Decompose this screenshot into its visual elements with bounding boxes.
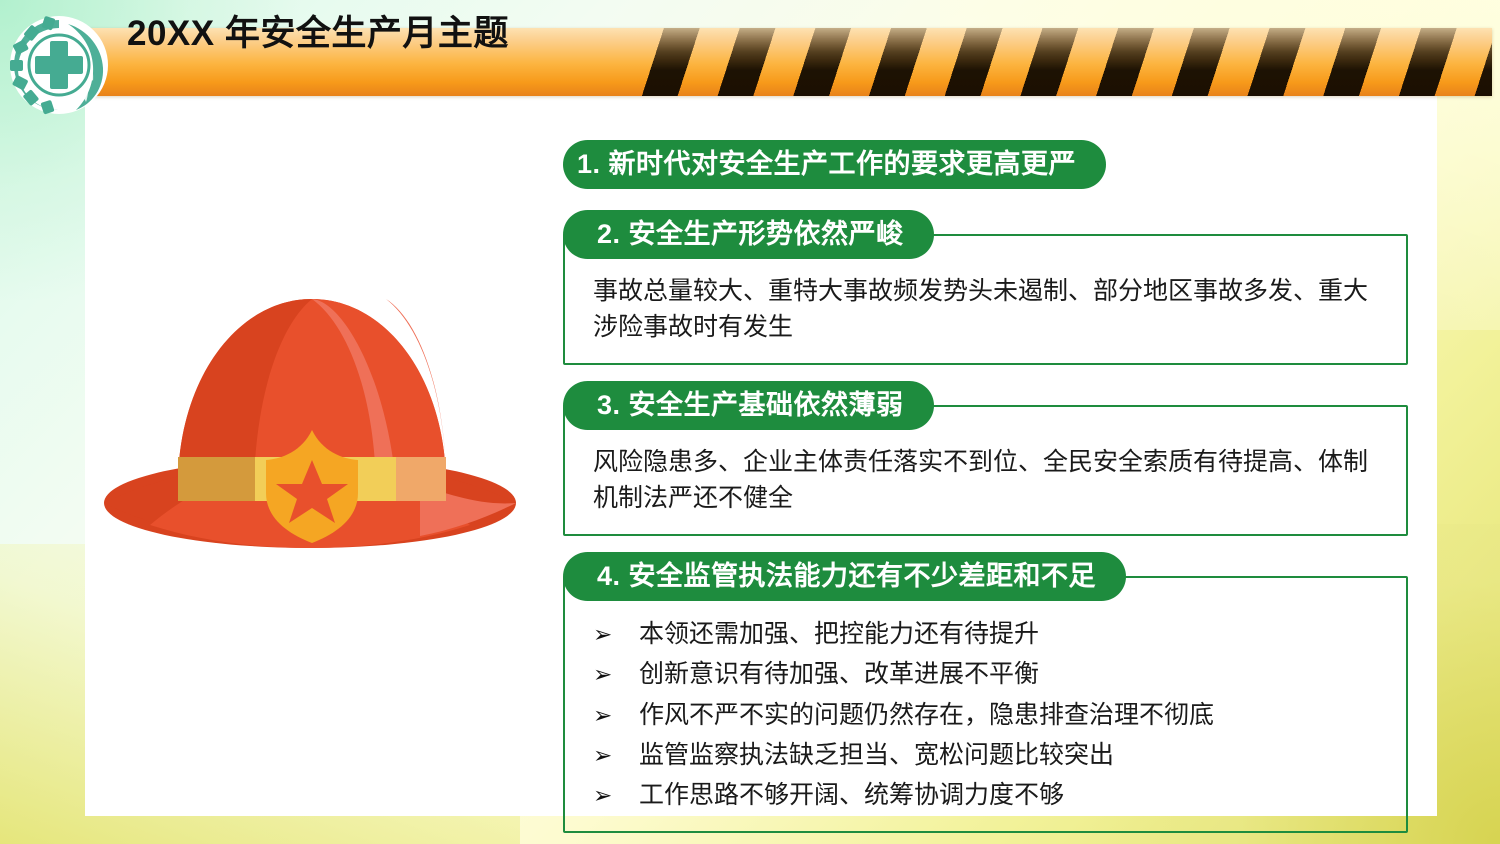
page-title: 20XX 年安全生产月主题 <box>127 0 509 68</box>
section-4-box: ➢ 本领还需加强、把控能力还有待提升 ➢ 创新意识有待加强、改革进展不平衡 ➢ … <box>563 576 1408 833</box>
arrow-bullet-icon: ➢ <box>593 699 639 732</box>
list-item-label: 作风不严不实的问题仍然存在，隐患排查治理不彻底 <box>639 697 1384 733</box>
section-2: 2. 安全生产形势依然严峻 事故总量较大、重特大事故频发势头未遏制、部分地区事故… <box>563 210 1408 365</box>
section-3-heading[interactable]: 3. 安全生产基础依然薄弱 <box>563 381 934 430</box>
safety-emblem-icon <box>8 14 110 116</box>
list-item: ➢ 监管监察执法缺乏担当、宽松问题比较突出 <box>593 737 1384 773</box>
arrow-bullet-icon: ➢ <box>593 658 639 691</box>
section-4-heading[interactable]: 4. 安全监管执法能力还有不少差距和不足 <box>563 552 1126 601</box>
list-item-label: 本领还需加强、把控能力还有待提升 <box>639 616 1384 652</box>
section-4-bullet-list: ➢ 本领还需加强、把控能力还有待提升 ➢ 创新意识有待加强、改革进展不平衡 ➢ … <box>593 616 1384 813</box>
section-1-heading[interactable]: 1. 新时代对安全生产工作的要求更高更严 <box>563 140 1106 189</box>
slide: 20XX 年安全生产月主题 <box>0 0 1500 844</box>
red-fireman-hat-illustration <box>90 255 540 565</box>
arrow-bullet-icon: ➢ <box>593 779 639 812</box>
list-item: ➢ 创新意识有待加强、改革进展不平衡 <box>593 656 1384 692</box>
section-3-body: 风险隐患多、企业主体责任落实不到位、全民安全索质有待提高、体制机制法严还不健全 <box>593 445 1384 516</box>
section-4: 4. 安全监管执法能力还有不少差距和不足 ➢ 本领还需加强、把控能力还有待提升 … <box>563 552 1408 833</box>
hazard-stripes-pattern <box>624 28 1492 96</box>
section-2-body: 事故总量较大、重特大事故频发势头未遏制、部分地区事故多发、重大涉险事故时有发生 <box>593 274 1384 345</box>
arrow-bullet-icon: ➢ <box>593 618 639 651</box>
list-item-label: 监管监察执法缺乏担当、宽松问题比较突出 <box>639 737 1384 773</box>
arrow-bullet-icon: ➢ <box>593 739 639 772</box>
list-item: ➢ 本领还需加强、把控能力还有待提升 <box>593 616 1384 652</box>
sections-list: 1. 新时代对安全生产工作的要求更高更严 2. 安全生产形势依然严峻 事故总量较… <box>563 140 1408 833</box>
section-1: 1. 新时代对安全生产工作的要求更高更严 <box>563 140 1408 194</box>
list-item: ➢ 工作思路不够开阔、统筹协调力度不够 <box>593 777 1384 813</box>
section-3: 3. 安全生产基础依然薄弱 风险隐患多、企业主体责任落实不到位、全民安全索质有待… <box>563 381 1408 536</box>
list-item: ➢ 作风不严不实的问题仍然存在，隐患排查治理不彻底 <box>593 697 1384 733</box>
list-item-label: 工作思路不够开阔、统筹协调力度不够 <box>639 777 1384 813</box>
list-item-label: 创新意识有待加强、改革进展不平衡 <box>639 656 1384 692</box>
section-2-heading[interactable]: 2. 安全生产形势依然严峻 <box>563 210 934 259</box>
